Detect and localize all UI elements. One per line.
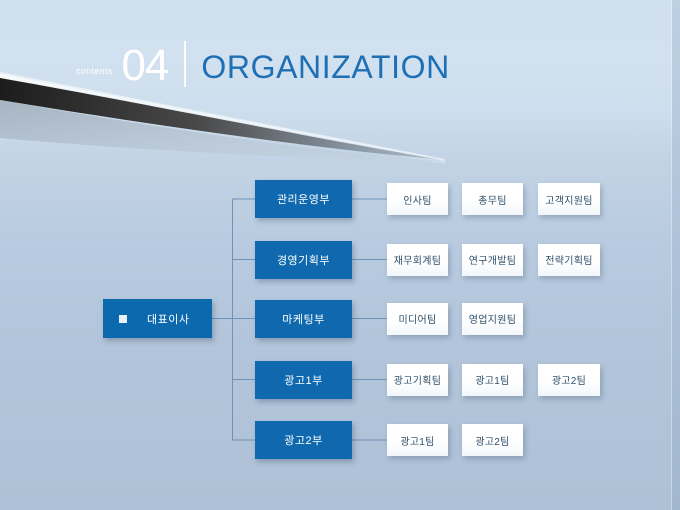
org-node-team-label: 고객지원팀 xyxy=(545,192,593,207)
org-node-team-label: 연구개발팀 xyxy=(469,252,517,267)
org-node-department[interactable]: 광고1부 xyxy=(255,361,352,399)
org-node-department-label: 경영기획부 xyxy=(277,252,330,268)
org-node-root[interactable]: 대표이사 xyxy=(103,299,212,338)
org-node-team-label: 광고2팀 xyxy=(552,372,586,387)
org-chart: 대표이사 관리운영부 경영기획부 마케팅부 광고1부 광고2부 인사팀 총무팀 … xyxy=(0,0,680,510)
org-node-team-label: 광고기획팀 xyxy=(394,372,442,387)
org-node-team[interactable]: 광고1팀 xyxy=(462,364,523,396)
org-node-team[interactable]: 광고2팀 xyxy=(538,364,600,396)
org-node-team-label: 재무회계팀 xyxy=(394,252,442,267)
org-node-root-label: 대표이사 xyxy=(147,311,189,327)
org-node-team-label: 인사팀 xyxy=(403,192,432,207)
org-node-team[interactable]: 연구개발팀 xyxy=(462,244,523,276)
org-node-team[interactable]: 광고1팀 xyxy=(387,424,448,456)
org-node-team[interactable]: 재무회계팀 xyxy=(387,244,448,276)
square-bullet-icon xyxy=(119,315,127,323)
org-node-department[interactable]: 경영기획부 xyxy=(255,241,352,279)
org-node-team[interactable]: 전략기획팀 xyxy=(538,244,600,276)
org-node-department[interactable]: 마케팅부 xyxy=(255,300,352,338)
org-node-team[interactable]: 미디어팀 xyxy=(387,303,448,335)
org-node-team[interactable]: 광고2팀 xyxy=(462,424,523,456)
org-node-department-label: 마케팅부 xyxy=(282,311,324,327)
org-node-team[interactable]: 광고기획팀 xyxy=(387,364,448,396)
org-node-team[interactable]: 총무팀 xyxy=(462,183,523,215)
org-node-department-label: 광고1부 xyxy=(284,372,322,388)
org-node-team-label: 광고1팀 xyxy=(400,433,434,448)
org-node-department[interactable]: 광고2부 xyxy=(255,421,352,459)
org-node-team-label: 광고2팀 xyxy=(475,433,509,448)
org-node-team[interactable]: 고객지원팀 xyxy=(538,183,600,215)
org-node-team-label: 총무팀 xyxy=(478,192,507,207)
org-node-department-label: 광고2부 xyxy=(284,432,322,448)
slide-canvas: contents 04 ORGANIZATION xyxy=(0,0,680,510)
org-node-team[interactable]: 영업지원팀 xyxy=(462,303,523,335)
org-node-team-label: 전략기획팀 xyxy=(545,252,593,267)
org-node-team-label: 미디어팀 xyxy=(399,311,437,326)
org-node-department[interactable]: 관리운영부 xyxy=(255,180,352,218)
org-node-department-label: 관리운영부 xyxy=(277,191,330,207)
org-node-team[interactable]: 인사팀 xyxy=(387,183,448,215)
org-node-team-label: 광고1팀 xyxy=(475,372,509,387)
org-node-team-label: 영업지원팀 xyxy=(469,311,517,326)
